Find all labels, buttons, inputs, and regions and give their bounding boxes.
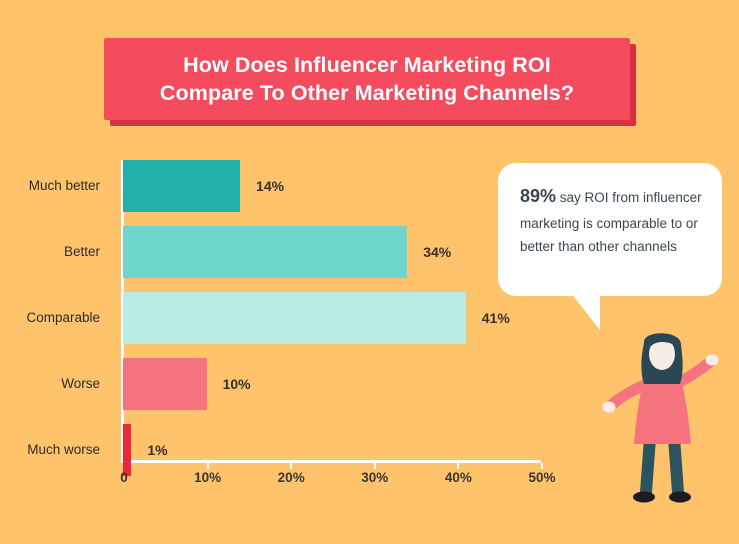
bar-value-label: 41% [482,292,510,344]
callout-bubble-tail [556,292,600,330]
woman-celebrating-svg [596,326,728,516]
x-axis-tick-label: 0 [120,470,128,485]
bar-category-label: Better [0,226,100,278]
title-banner: How Does Influencer Marketing ROI Compar… [104,38,630,120]
callout-bubble: 89% say ROI from influencer marketing is… [498,163,722,296]
bar[interactable] [123,226,407,278]
infographic-canvas: How Does Influencer Marketing ROI Compar… [0,0,739,544]
x-axis-tick-label: 10% [194,470,221,485]
x-axis-tick-label: 20% [278,470,305,485]
bar-value-label: 34% [423,226,451,278]
bar-value-label: 14% [256,160,284,212]
x-axis-tick [207,463,209,469]
bar[interactable] [123,292,466,344]
x-axis-tick [457,463,459,469]
bar-value-label: 10% [223,358,251,410]
bar-category-label: Worse [0,358,100,410]
x-axis-tick [374,463,376,469]
x-axis-tick-label: 30% [361,470,388,485]
bar-category-label: Much better [0,160,100,212]
bar[interactable] [123,424,131,476]
page-title: How Does Influencer Marketing ROI Compar… [146,51,588,108]
x-axis-tick-label: 40% [445,470,472,485]
bar-category-label: Comparable [0,292,100,344]
bar-category-label: Much worse [0,424,100,476]
bar-value-label: 1% [147,424,167,476]
woman-celebrating-illustration [596,326,728,516]
x-axis-tick [290,463,292,469]
bar[interactable] [123,160,240,212]
bar[interactable] [123,358,207,410]
callout-highlight: 89% [520,186,556,206]
x-axis-tick [541,463,543,469]
x-axis-tick-label: 50% [528,470,555,485]
callout-text: 89% say ROI from influencer marketing is… [520,181,702,258]
